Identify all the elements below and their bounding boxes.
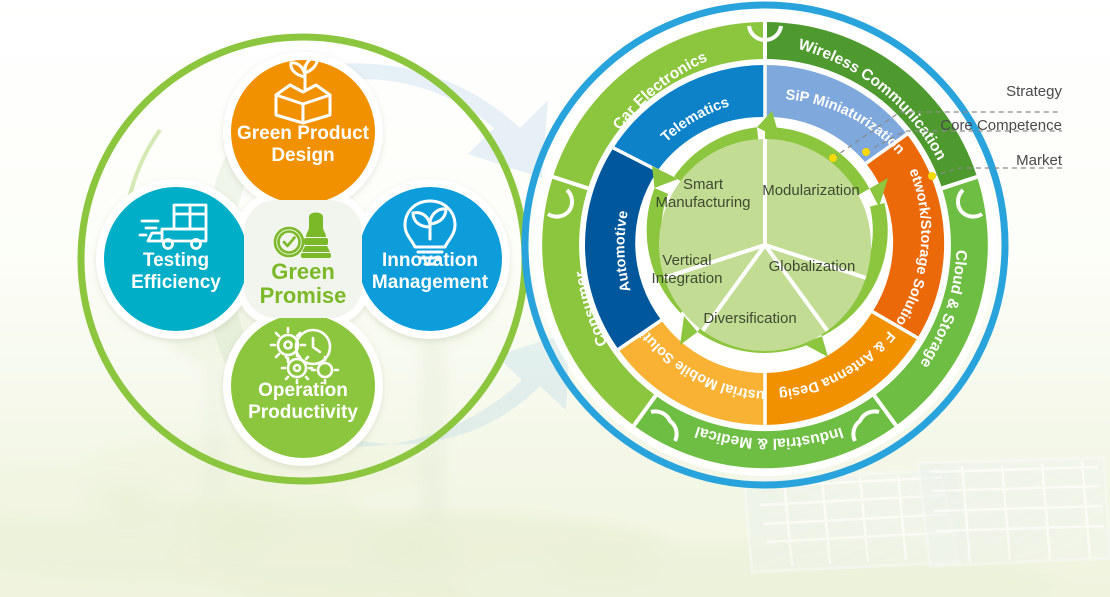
- infographic-canvas: Green Product Design Innovation Manageme…: [0, 0, 1110, 597]
- lobe-label-line2: Design: [271, 145, 334, 166]
- inner-label-vertical-integration-line1: Vertical: [662, 252, 711, 269]
- inner-label-smart-manufacturing-line2: Manufacturing: [655, 194, 750, 211]
- leader-dot-strategy: [829, 154, 837, 162]
- lobe-operation-productivity[interactable]: Operation Productivity: [231, 314, 375, 458]
- lobe-label-line1: Innovation: [382, 250, 478, 271]
- inner-label-smart-manufacturing-line1: Smart: [683, 176, 724, 193]
- lobe-label-line2: Productivity: [248, 402, 358, 423]
- lobe-label-line1: Operation: [258, 380, 348, 401]
- lobe-innovation-management[interactable]: Innovation Management: [358, 187, 502, 331]
- center-label-line1: Green: [271, 259, 335, 284]
- leader-dot-core-competence: [862, 148, 870, 156]
- lobe-testing-efficiency[interactable]: Testing Efficiency: [104, 187, 248, 331]
- green-promise-center[interactable]: Green Promise: [244, 200, 362, 318]
- lobe-label-line1: Testing: [143, 250, 209, 271]
- left-wheel: Green Product Design Innovation Manageme…: [81, 37, 525, 481]
- inner-label-modularization: Modularization: [762, 182, 860, 199]
- legend-label-strategy: Strategy: [1006, 83, 1062, 100]
- center-label-line2: Promise: [260, 283, 347, 308]
- legend-label-market: Market: [1016, 152, 1063, 169]
- lobe-label-line2: Management: [372, 272, 489, 293]
- inner-label-diversification: Diversification: [703, 310, 796, 327]
- inner-label-vertical-integration-line2: Integration: [652, 270, 723, 287]
- leader-dot-market: [928, 172, 936, 180]
- lobe-label-line2: Efficiency: [131, 272, 221, 293]
- legend-label-core-competence: Core Competence: [940, 117, 1062, 134]
- lobe-label-line1: Green Product: [237, 123, 370, 144]
- inner-label-globalization: Globalization: [769, 258, 856, 275]
